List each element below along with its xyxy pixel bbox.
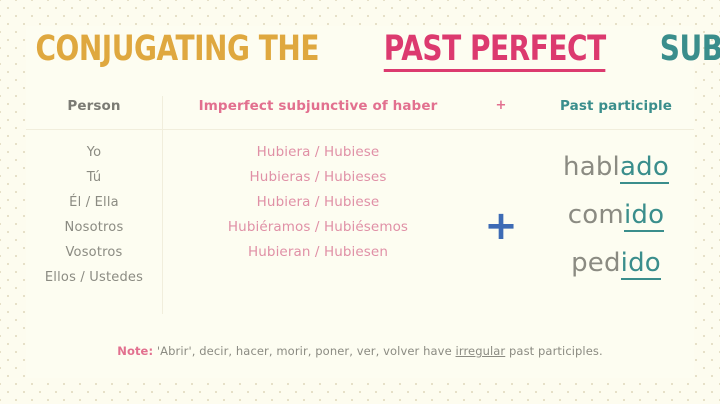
title-segment-past-perfect: PAST PERFECT [383,31,605,72]
column-header-haber: Imperfect subjunctive of haber [172,96,464,116]
list-item: Hubiera / Hubiese [172,140,464,165]
header-divider-rule [26,129,694,130]
list-item: Nosotros [26,215,162,240]
list-item: pedido [538,248,694,278]
conjugation-table: Person Imperfect subjunctive of haber + … [26,96,694,318]
list-item: Vosotros [26,240,162,265]
list-item: comido [538,200,694,230]
note-text-before: 'Abrir', decir, hacer, morir, poner, ver… [157,344,452,358]
page-title: CONJUGATING THE PAST PERFECT SUBJUNCTIVE [0,31,720,72]
list-item: Ellos / Ustedes [26,265,162,290]
participle-stem: com [568,200,624,230]
participle-stem: ped [571,248,621,278]
participle-ending: ido [621,248,661,280]
note-label: Note: [117,344,153,358]
title-segment-conjugating: CONJUGATING THE [35,31,319,68]
participle-ending: ido [624,200,664,232]
note-text-after: past participles. [509,344,603,358]
participle-stem: habl [563,152,620,182]
column-header-participle: Past participle [538,96,694,116]
column-header-plus: + [464,96,538,116]
list-item: Hubiéramos / Hubiésemos [172,215,464,240]
list-item: Yo [26,140,162,165]
plus-symbol: + [464,206,538,246]
list-item: Hubiera / Hubiese [172,190,464,215]
list-item: hablado [538,152,694,182]
table-header-row: Person Imperfect subjunctive of haber + … [26,96,694,128]
list-item: Él / Ella [26,190,162,215]
infographic-canvas: CONJUGATING THE PAST PERFECT SUBJUNCTIVE… [0,0,720,404]
participle-column: hablado comido pedido [538,152,694,296]
list-item: Hubieran / Hubiesen [172,240,464,265]
note-irregular-emphasis: irregular [456,344,506,358]
participle-ending: ado [620,152,669,184]
list-item: Tú [26,165,162,190]
title-segment-subjunctive: SUBJUNCTIVE [660,31,720,68]
list-item: Hubieras / Hubieses [172,165,464,190]
person-column: Yo Tú Él / Ella Nosotros Vosotros Ellos … [26,140,162,290]
haber-column: Hubiera / Hubiese Hubieras / Hubieses Hu… [172,140,464,265]
column-header-person: Person [26,96,162,116]
footer-note: Note: 'Abrir', decir, hacer, morir, pone… [0,344,720,358]
